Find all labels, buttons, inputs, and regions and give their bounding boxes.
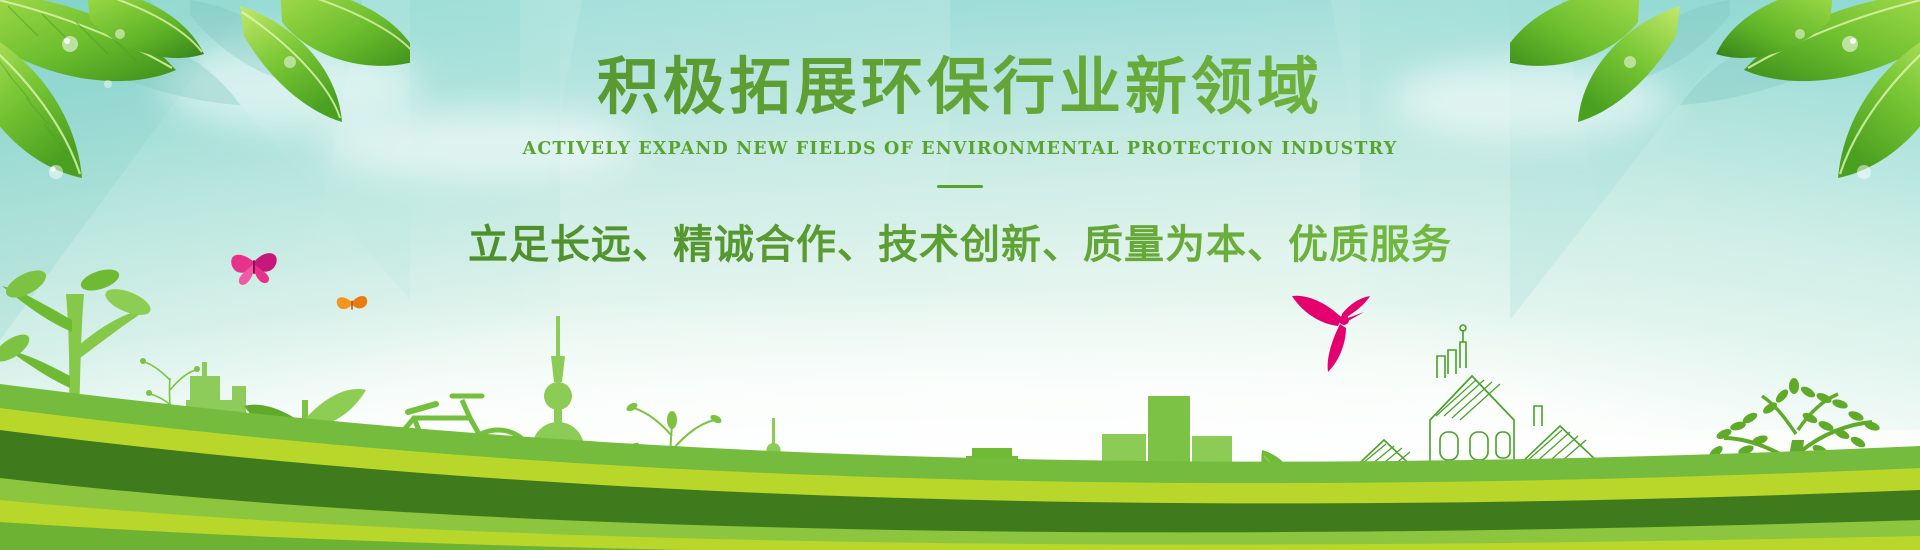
wave-bands: [0, 350, 1920, 550]
divider-rule: [937, 185, 983, 188]
subtitle: ACTIVELY EXPAND NEW FIELDS OF ENVIRONMEN…: [0, 139, 1920, 159]
butterfly-pink: [231, 253, 276, 285]
butterfly-orange: [337, 296, 367, 310]
banner-text-block: 积极拓展环保行业新领域 ACTIVELY EXPAND NEW FIELDS O…: [0, 52, 1920, 270]
eco-banner: 积极拓展环保行业新领域 ACTIVELY EXPAND NEW FIELDS O…: [0, 0, 1920, 550]
page-title: 积极拓展环保行业新领域: [0, 52, 1920, 121]
